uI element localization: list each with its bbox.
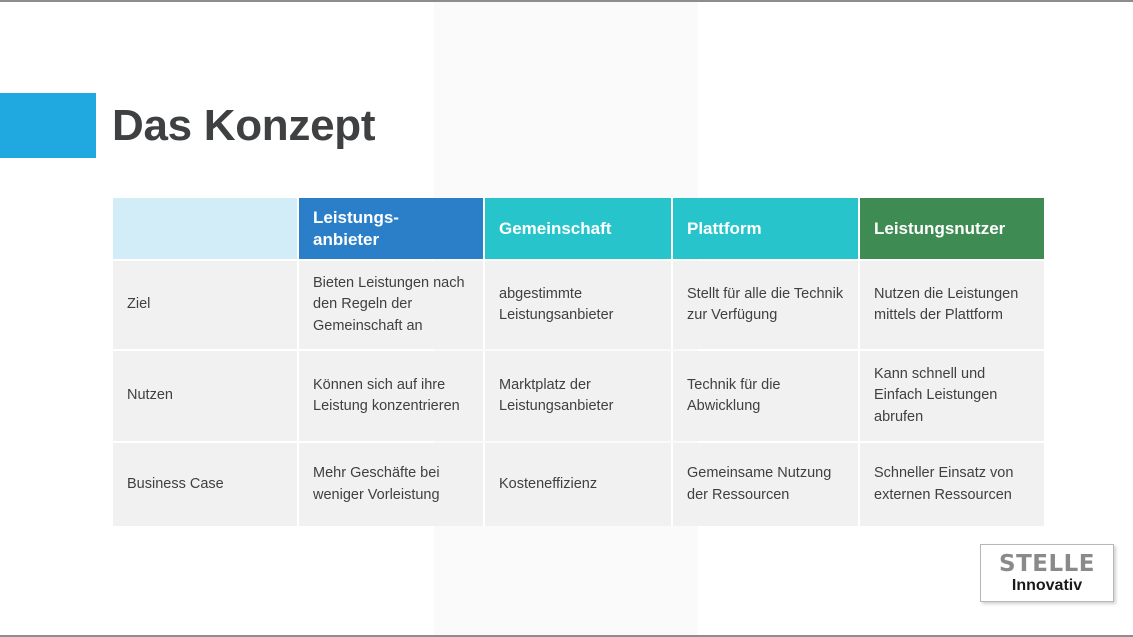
concept-table: Leistungs-anbieter Gemeinschaft Plattfor…	[113, 198, 1036, 526]
table-cell: Kann schnell und Einfach Leistungen abru…	[860, 351, 1044, 441]
table-row-label: Ziel	[113, 261, 297, 349]
table-cell: abgestimmte Leistungsanbieter	[485, 261, 671, 349]
table-cell: Schneller Einsatz von externen Ressource…	[860, 443, 1044, 526]
table-cell: Marktplatz der Leistungsanbieter	[485, 351, 671, 441]
title-accent-bar	[0, 93, 96, 158]
table-header-label-leistungsanbieter: Leistungs-anbieter	[313, 207, 399, 250]
table-cell: Mehr Geschäfte bei weniger Vorleistung	[299, 443, 483, 526]
table-header-cell-blank	[113, 198, 297, 259]
logo-primary-text: STELLE	[999, 552, 1095, 576]
table-cell: Stellt für alle die Technik zur Verfügun…	[673, 261, 858, 349]
table-row: Ziel Bieten Leistungen nach den Regeln d…	[113, 261, 1036, 349]
slide-canvas: Das Konzept Leistungs-anbieter Gemeinsch…	[0, 0, 1133, 637]
table-cell: Nutzen die Leistungen mittels der Plattf…	[860, 261, 1044, 349]
table-header-cell-leistungsnutzer: Leistungsnutzer	[860, 198, 1044, 259]
table-row-label: Business Case	[113, 443, 297, 526]
table-header-cell-leistungsanbieter: Leistungs-anbieter	[299, 198, 483, 259]
table-row-label: Nutzen	[113, 351, 297, 441]
table-header-row: Leistungs-anbieter Gemeinschaft Plattfor…	[113, 198, 1036, 259]
table-cell: Gemeinsame Nutzung der Ressourcen	[673, 443, 858, 526]
table-cell: Kosteneffizienz	[485, 443, 671, 526]
table-cell: Bieten Leistungen nach den Regeln der Ge…	[299, 261, 483, 349]
table-header-label-leistungsnutzer: Leistungsnutzer	[874, 218, 1005, 239]
table-cell: Technik für die Abwicklung	[673, 351, 858, 441]
table-header-cell-plattform: Plattform	[673, 198, 858, 259]
table-cell: Können sich auf ihre Leistung konzentrie…	[299, 351, 483, 441]
table-header-cell-gemeinschaft: Gemeinschaft	[485, 198, 671, 259]
page-title: Das Konzept	[112, 93, 812, 159]
logo-secondary-text: Innovativ	[1012, 577, 1082, 595]
table-row: Nutzen Können sich auf ihre Leistung kon…	[113, 351, 1036, 441]
company-logo: STELLE Innovativ	[980, 544, 1114, 602]
table-header-label-gemeinschaft: Gemeinschaft	[499, 218, 611, 239]
table-row: Business Case Mehr Geschäfte bei weniger…	[113, 443, 1036, 526]
table-header-label-plattform: Plattform	[687, 218, 762, 239]
